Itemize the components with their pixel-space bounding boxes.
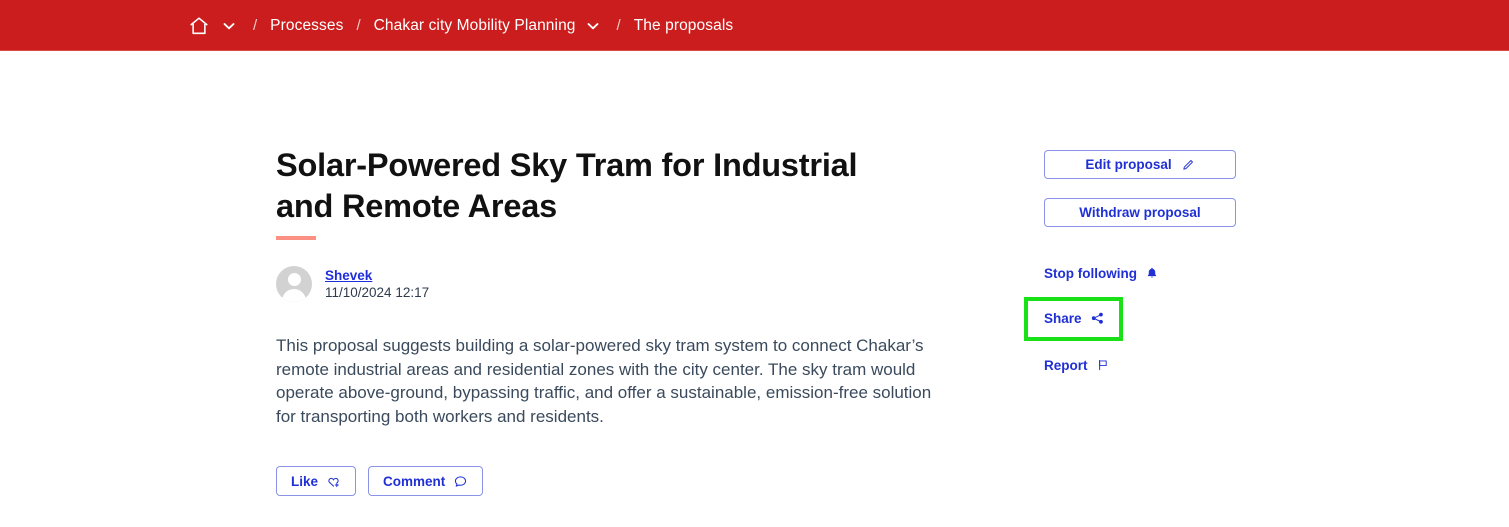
withdraw-proposal-label: Withdraw proposal	[1079, 205, 1200, 220]
home-link[interactable]	[186, 15, 212, 37]
like-button[interactable]: Like	[276, 466, 356, 496]
avatar-head-shape	[288, 273, 301, 286]
breadcrumb-item-participatory-process[interactable]: Chakar city Mobility Planning	[374, 15, 576, 37]
speech-bubble-icon	[453, 474, 468, 489]
heart-plus-icon	[326, 474, 341, 489]
share-highlight-box: Share	[1024, 297, 1123, 341]
pencil-icon	[1181, 158, 1195, 172]
edit-proposal-label: Edit proposal	[1085, 157, 1171, 172]
comment-button-label: Comment	[383, 474, 445, 489]
edit-proposal-button[interactable]: Edit proposal	[1044, 150, 1236, 179]
sidebar-spacer-2	[1044, 341, 1240, 355]
author-name-link[interactable]: Shevek	[325, 268, 372, 283]
page-title: Solar-Powered Sky Tram for Industrial an…	[276, 145, 896, 227]
breadcrumb-item-the-proposals[interactable]: The proposals	[634, 15, 734, 37]
proposal-body-text: This proposal suggests building a solar-…	[276, 334, 936, 428]
stop-following-link[interactable]: Stop following	[1044, 263, 1159, 283]
proposal-main-column: Solar-Powered Sky Tram for Industrial an…	[276, 145, 956, 496]
withdraw-proposal-button[interactable]: Withdraw proposal	[1044, 198, 1236, 227]
like-button-label: Like	[291, 474, 318, 489]
sidebar-spacer-1	[1044, 283, 1240, 297]
flag-icon	[1096, 358, 1110, 372]
bell-icon	[1145, 266, 1159, 280]
avatar-body-shape	[282, 289, 306, 302]
share-label: Share	[1044, 311, 1082, 326]
sidebar-links: Stop following Share	[1044, 263, 1240, 375]
proposal-action-row: Like Comment	[276, 466, 956, 496]
report-link[interactable]: Report	[1044, 355, 1110, 375]
title-accent-rule	[276, 236, 316, 240]
report-label: Report	[1044, 358, 1088, 373]
avatar	[276, 266, 312, 302]
author-block: Shevek 11/10/2024 12:17	[276, 266, 956, 302]
share-link[interactable]: Share	[1044, 311, 1105, 326]
stop-following-label: Stop following	[1044, 266, 1137, 281]
proposal-sidebar: Edit proposal Withdraw proposal Stop fol…	[1044, 150, 1240, 375]
breadcrumb-separator-3: /	[604, 17, 634, 34]
share-icon	[1090, 311, 1105, 326]
publish-date: 11/10/2024 12:17	[325, 285, 429, 300]
breadcrumb-bar: / Processes / Chakar city Mobility Plann…	[0, 0, 1509, 51]
page-content: Solar-Powered Sky Tram for Industrial an…	[0, 51, 1509, 527]
author-meta: Shevek 11/10/2024 12:17	[325, 268, 429, 300]
breadcrumb: / Processes / Chakar city Mobility Plann…	[186, 0, 733, 51]
breadcrumb-item-processes[interactable]: Processes	[270, 15, 343, 37]
home-icon	[188, 15, 210, 37]
process-chevron-down-icon[interactable]	[582, 15, 604, 37]
home-chevron-down-icon[interactable]	[218, 15, 240, 37]
comment-button[interactable]: Comment	[368, 466, 483, 496]
breadcrumb-separator-1: /	[240, 17, 270, 34]
breadcrumb-separator-2: /	[343, 17, 373, 34]
